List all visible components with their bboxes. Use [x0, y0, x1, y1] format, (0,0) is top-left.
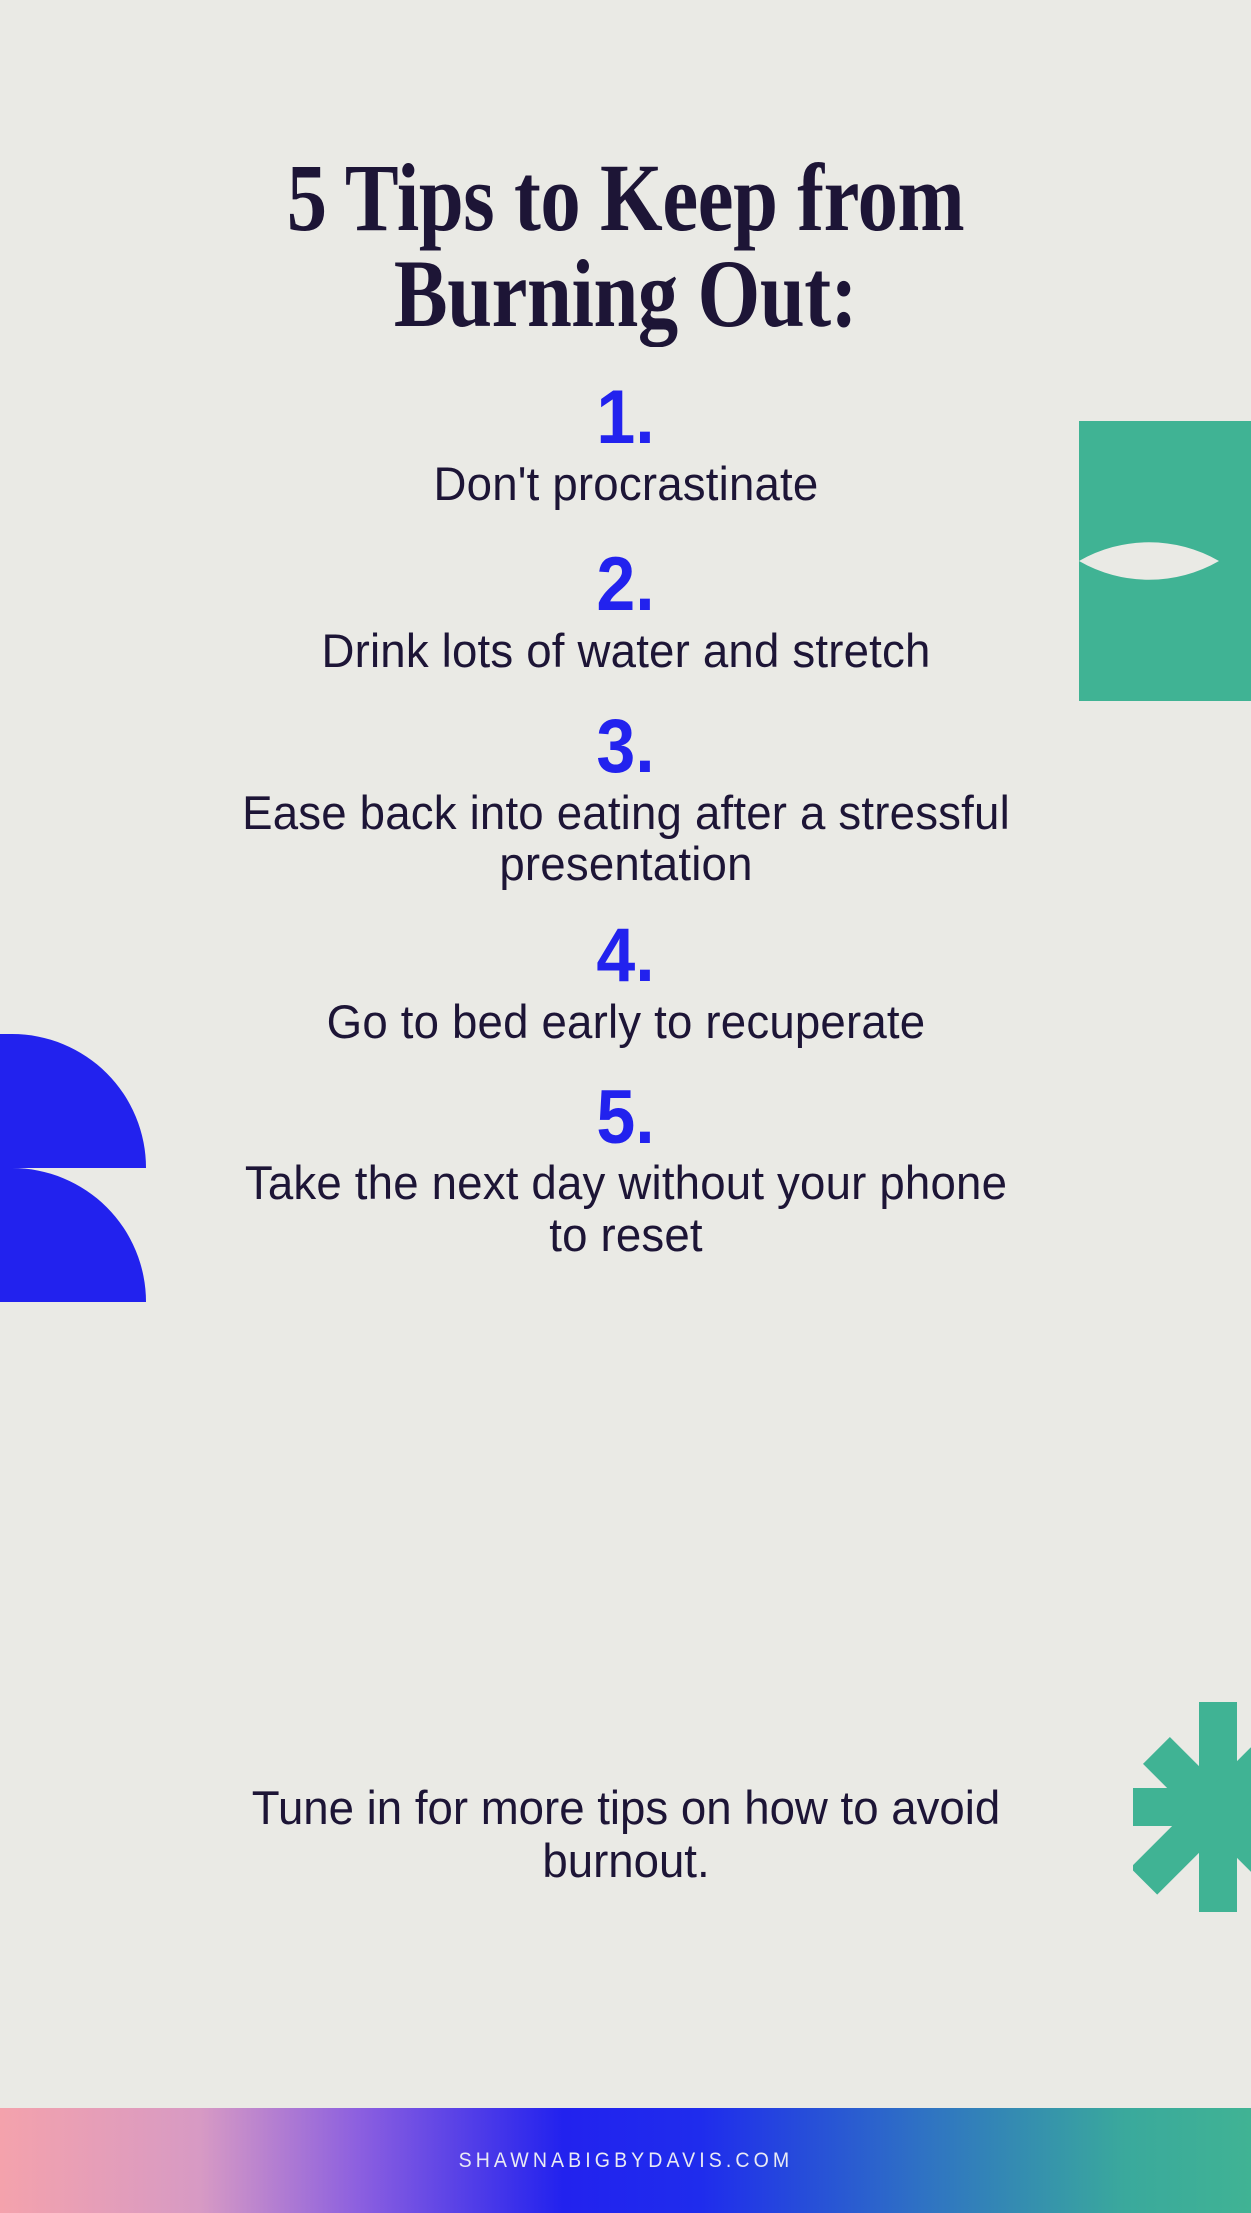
list-item: 2. Drink lots of water and stretch [0, 545, 1251, 676]
tip-number: 1. [50, 378, 1201, 458]
list-item: 3. Ease back into eating after a stressf… [0, 707, 1251, 890]
infographic-poster: 5 Tips to Keep from Burning Out: 1. Don'… [0, 0, 1251, 2213]
tip-number: 2. [50, 545, 1201, 625]
tip-text: Go to bed early to recuperate [233, 996, 1019, 1048]
closing-note: Tune in for more tips on how to avoid bu… [0, 1782, 1251, 1887]
tips-list: 1. Don't procrastinate 2. Drink lots of … [0, 378, 1251, 1279]
tip-text: Ease back into eating after a stressful … [233, 787, 1019, 890]
closing-text: Tune in for more tips on how to avoid bu… [228, 1782, 1023, 1887]
tip-number: 4. [50, 916, 1201, 996]
tip-number: 3. [50, 707, 1201, 787]
website-url[interactable]: SHAWNABIGBYDAVIS.COM [458, 2149, 793, 2173]
tip-number: 5. [50, 1078, 1201, 1158]
list-item: 5. Take the next day without your phone … [0, 1078, 1251, 1261]
list-item: 1. Don't procrastinate [0, 378, 1251, 509]
footer-bar: SHAWNABIGBYDAVIS.COM [0, 2108, 1251, 2213]
page-title: 5 Tips to Keep from Burning Out: [100, 150, 1151, 342]
list-item: 4. Go to bed early to recuperate [0, 916, 1251, 1047]
tip-text: Take the next day without your phone to … [233, 1157, 1019, 1260]
title-block: 5 Tips to Keep from Burning Out: [0, 150, 1251, 342]
tip-text: Don't procrastinate [233, 458, 1019, 510]
tip-text: Drink lots of water and stretch [233, 625, 1019, 677]
